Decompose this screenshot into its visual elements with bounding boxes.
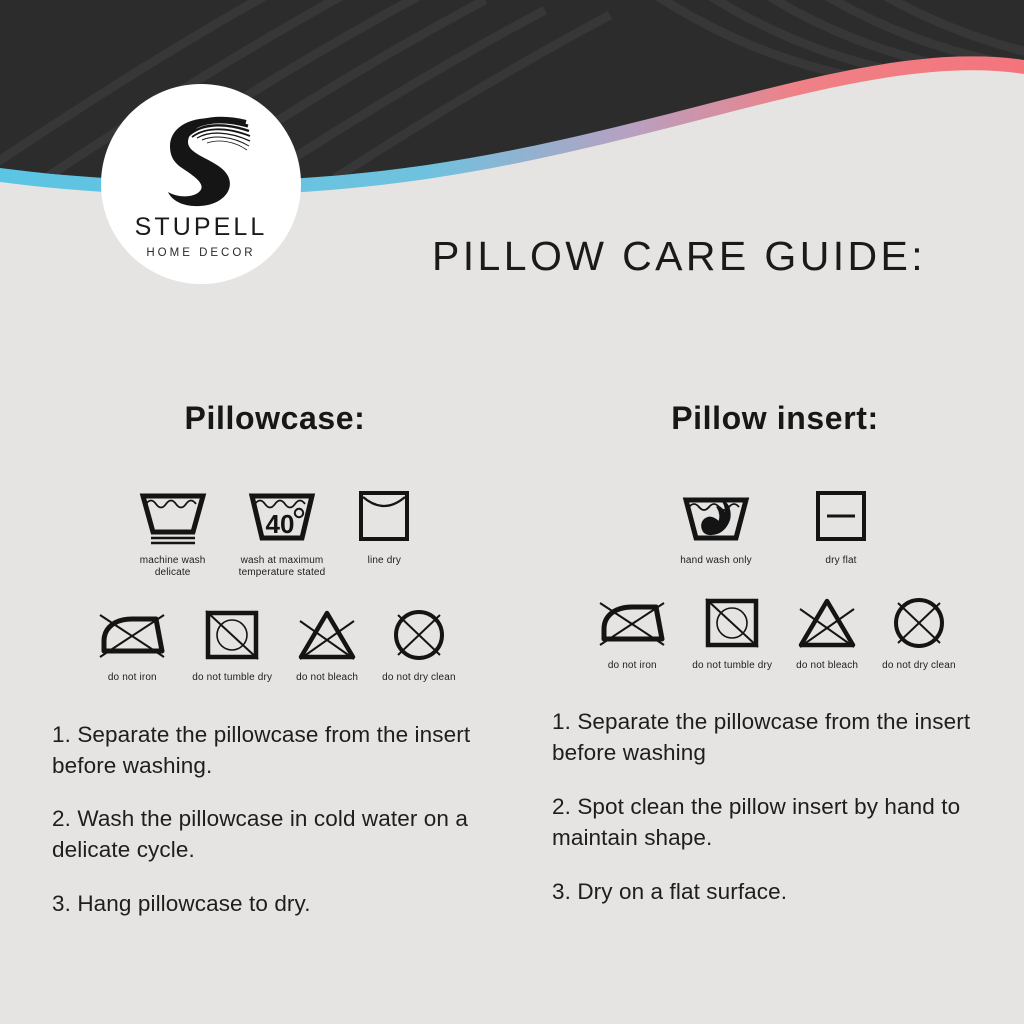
- do-not-bleach-icon: [794, 589, 860, 651]
- symbol-caption: wash at maximum temperature stated: [239, 555, 326, 579]
- symbol-do-not-iron: do not iron: [594, 589, 670, 672]
- line-dry-icon: [353, 484, 415, 546]
- symbol-do-not-dry-clean: do not dry clean: [882, 589, 956, 672]
- symbol-do-not-iron: do not iron: [94, 601, 170, 684]
- instruction-list: 1. Separate the pillowcase from the inse…: [540, 706, 1010, 906]
- symbol-row-prohibitions: do not iron do not tumble dry: [40, 601, 510, 684]
- do-not-iron-icon: [94, 601, 170, 663]
- symbol-row-prohibitions: do not iron do not tumble dry: [540, 589, 1010, 672]
- symbol-caption: do not dry clean: [882, 660, 956, 672]
- symbol-row-wash: hand wash only dry flat: [540, 484, 1010, 567]
- symbol-do-not-dry-clean: do not dry clean: [382, 601, 456, 684]
- symbol-dry-flat: dry flat: [810, 484, 872, 567]
- symbol-caption: hand wash only: [680, 555, 752, 567]
- hand-wash-only-icon: [678, 484, 754, 546]
- brand-tagline: HOME DECOR: [146, 247, 255, 259]
- wash-max-temperature-40-icon: 40: [244, 484, 320, 546]
- symbol-machine-wash-delicate: machine wash delicate: [135, 484, 211, 579]
- instruction-step: 2. Wash the pillowcase in cold water on …: [52, 803, 510, 865]
- instruction-step: 2. Spot clean the pillow insert by hand …: [552, 791, 1010, 853]
- dry-flat-icon: [810, 484, 872, 546]
- symbol-caption: machine wash delicate: [140, 555, 206, 579]
- machine-wash-delicate-icon: [135, 484, 211, 546]
- do-not-dry-clean-icon: [888, 589, 950, 651]
- column-pillowcase: Pillowcase: machine wash delicate: [40, 400, 510, 919]
- do-not-bleach-icon: [294, 601, 360, 663]
- symbol-line-dry: line dry: [353, 484, 415, 567]
- symbol-caption: do not dry clean: [382, 672, 456, 684]
- symbol-caption: do not tumble dry: [692, 660, 772, 672]
- symbol-caption: line dry: [368, 555, 401, 567]
- symbol-caption: do not iron: [608, 660, 657, 672]
- symbol-row-wash: machine wash delicate 40 wash at maximum…: [40, 484, 510, 579]
- brand-logo-badge: STUPELL HOME DECOR: [101, 84, 301, 284]
- symbol-wash-max-temperature: 40 wash at maximum temperature stated: [239, 484, 326, 579]
- do-not-dry-clean-icon: [388, 601, 450, 663]
- do-not-tumble-dry-icon: [700, 589, 764, 651]
- instruction-step: 1. Separate the pillowcase from the inse…: [52, 719, 510, 781]
- do-not-iron-icon: [594, 589, 670, 651]
- column-heading: Pillowcase:: [40, 400, 510, 444]
- brand-name: STUPELL: [135, 215, 268, 240]
- instruction-step: 1. Separate the pillowcase from the inse…: [552, 706, 1010, 768]
- wash-temperature-value: 40: [266, 509, 295, 539]
- symbol-caption: do not bleach: [796, 660, 858, 672]
- symbol-hand-wash-only: hand wash only: [678, 484, 754, 567]
- symbol-do-not-tumble-dry: do not tumble dry: [692, 589, 772, 672]
- column-pillow-insert: Pillow insert: hand wash only: [540, 400, 1010, 907]
- instruction-list: 1. Separate the pillowcase from the inse…: [40, 719, 510, 919]
- symbol-caption: do not tumble dry: [192, 672, 272, 684]
- symbol-do-not-bleach: do not bleach: [794, 589, 860, 672]
- page-title: PILLOW CARE GUIDE:: [432, 233, 926, 280]
- symbol-caption: do not iron: [108, 672, 157, 684]
- instruction-step: 3. Dry on a flat surface.: [552, 876, 1010, 907]
- stupell-swoosh-logo-icon: [142, 106, 260, 212]
- do-not-tumble-dry-icon: [200, 601, 264, 663]
- column-heading: Pillow insert:: [540, 400, 1010, 444]
- symbol-caption: dry flat: [825, 555, 856, 567]
- instruction-step: 3. Hang pillowcase to dry.: [52, 888, 510, 919]
- symbol-caption: do not bleach: [296, 672, 358, 684]
- symbol-do-not-tumble-dry: do not tumble dry: [192, 601, 272, 684]
- symbol-do-not-bleach: do not bleach: [294, 601, 360, 684]
